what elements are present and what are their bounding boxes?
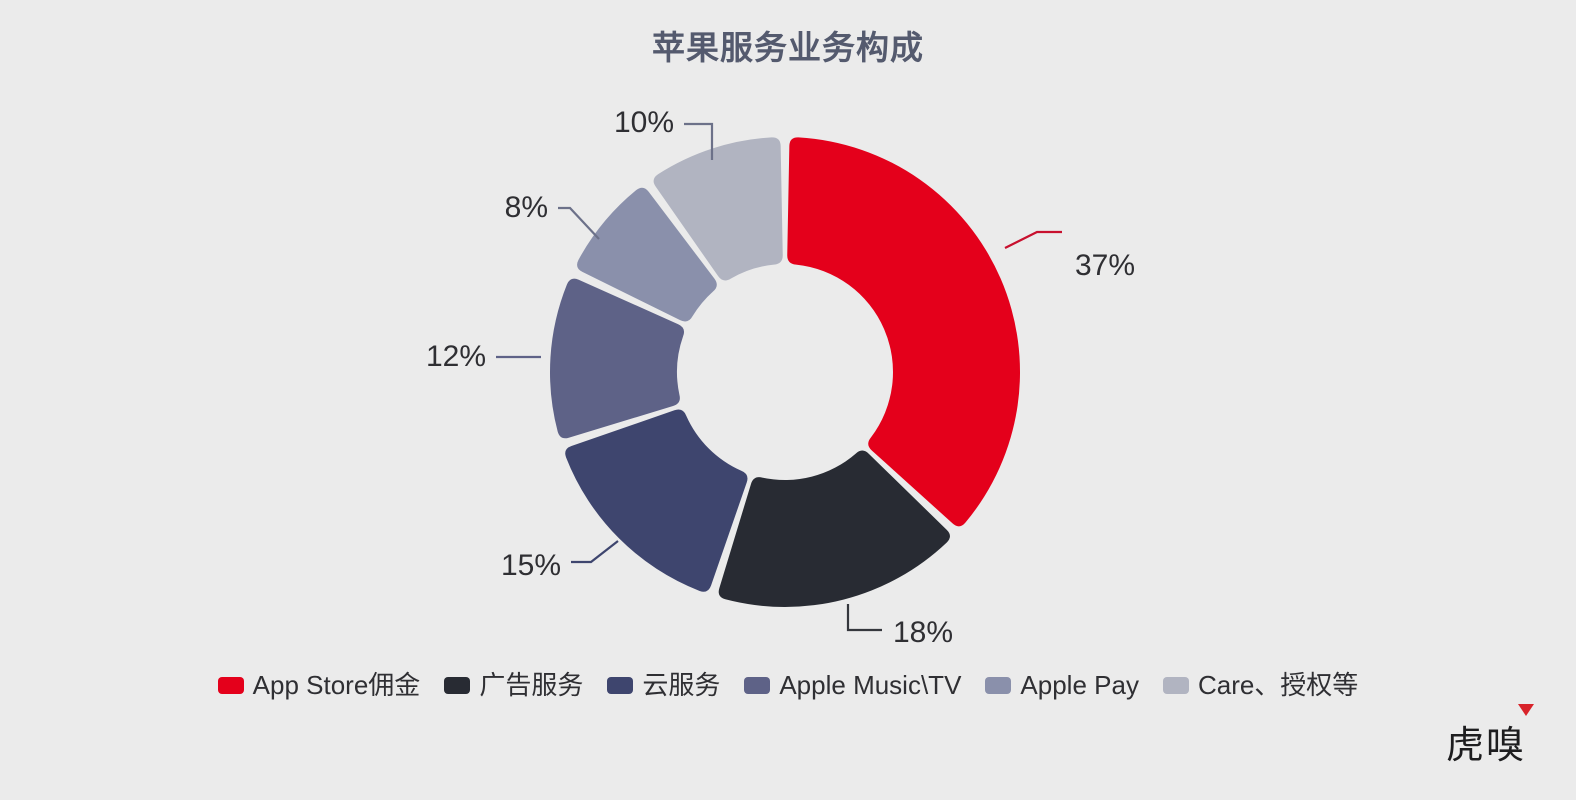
donut-slice[interactable]: App Store佣金 37% bbox=[787, 137, 1020, 526]
legend-item-label: 云服务 bbox=[642, 672, 720, 698]
watermark-text: 虎嗅 bbox=[1446, 726, 1526, 764]
leader-line bbox=[558, 208, 599, 239]
legend-item[interactable]: Apple Pay bbox=[985, 672, 1139, 698]
page-title: 苹果服务业务构成 bbox=[0, 28, 1576, 68]
leader-line bbox=[571, 541, 618, 562]
chart-legend: App Store佣金广告服务云服务Apple Music\TVApple Pa… bbox=[0, 672, 1576, 698]
donut-slice[interactable]: 云服务 15% bbox=[565, 410, 747, 592]
watermark-triangle-icon bbox=[1518, 704, 1534, 716]
legend-item[interactable]: Care、授权等 bbox=[1163, 672, 1358, 698]
slice-percent-label: 18% bbox=[893, 616, 953, 649]
slice-percent-label: 37% bbox=[1075, 249, 1135, 282]
legend-swatch-icon bbox=[744, 677, 770, 694]
leader-line bbox=[1005, 232, 1062, 248]
legend-item-label: Apple Pay bbox=[1020, 672, 1139, 698]
legend-item[interactable]: App Store佣金 bbox=[218, 672, 421, 698]
donut-chart: App Store佣金 37%广告服务 18%云服务 15%Apple Musi… bbox=[330, 70, 1250, 650]
slice-percent-label: 8% bbox=[505, 191, 548, 224]
donut-chart-svg: App Store佣金 37%广告服务 18%云服务 15%Apple Musi… bbox=[330, 70, 1250, 650]
legend-item-label: App Store佣金 bbox=[253, 672, 421, 698]
leader-line bbox=[848, 604, 882, 630]
chart-canvas: 苹果服务业务构成 App Store佣金 37%广告服务 18%云服务 15%A… bbox=[0, 0, 1576, 800]
legend-item[interactable]: 广告服务 bbox=[444, 672, 583, 698]
slice-percent-label: 10% bbox=[614, 106, 674, 139]
slice-percent-label: 15% bbox=[501, 549, 561, 582]
legend-item[interactable]: 云服务 bbox=[607, 672, 720, 698]
legend-swatch-icon bbox=[1163, 677, 1189, 694]
watermark-huxiu: 虎嗅 bbox=[1446, 704, 1542, 766]
legend-item[interactable]: Apple Music\TV bbox=[744, 672, 961, 698]
legend-swatch-icon bbox=[607, 677, 633, 694]
slice-percent-label: 12% bbox=[426, 340, 486, 373]
legend-swatch-icon bbox=[985, 677, 1011, 694]
legend-item-label: Apple Music\TV bbox=[779, 672, 961, 698]
legend-swatch-icon bbox=[218, 677, 244, 694]
legend-item-label: Care、授权等 bbox=[1198, 672, 1358, 698]
legend-item-label: 广告服务 bbox=[479, 672, 583, 698]
donut-slices: App Store佣金 37%广告服务 18%云服务 15%Apple Musi… bbox=[550, 137, 1020, 607]
legend-swatch-icon bbox=[444, 677, 470, 694]
